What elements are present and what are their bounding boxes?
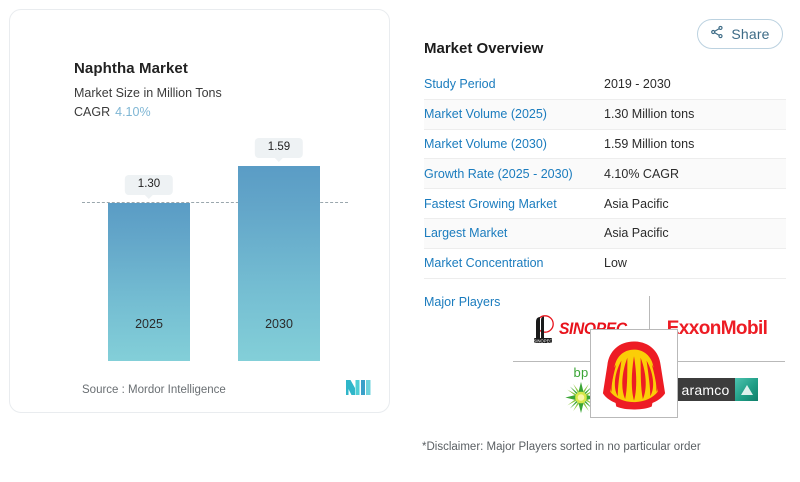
bar-value-label-2025: 1.30 [125, 175, 173, 195]
aramco-wordmark: aramco [676, 378, 736, 401]
row-value: Asia Pacific [604, 226, 669, 240]
market-overview-panel: Market Overview Study Period 2019 - 2030… [424, 40, 786, 309]
row-value: Asia Pacific [604, 197, 669, 211]
player-logo-shell [590, 329, 678, 418]
bar-value-label-2030: 1.59 [255, 138, 303, 158]
table-row: Market Volume (2030) 1.59 Million tons [424, 130, 786, 160]
row-value: 2019 - 2030 [604, 77, 671, 91]
table-row: Growth Rate (2025 - 2030) 4.10% CAGR [424, 159, 786, 189]
bar-group-2025[interactable]: 1.30 2025 [108, 126, 190, 361]
row-label: Growth Rate (2025 - 2030) [424, 167, 604, 181]
source-prefix: Source : [82, 384, 125, 396]
table-row: Fastest Growing Market Asia Pacific [424, 189, 786, 219]
bar-chart-plot: 1.30 2025 1.59 2030 [10, 10, 391, 414]
aramco-mark-icon [735, 378, 758, 401]
row-label: Fastest Growing Market [424, 197, 604, 211]
x-axis-label-2025: 2025 [135, 317, 163, 331]
row-value: 1.30 Million tons [604, 107, 694, 121]
overview-table: Study Period 2019 - 2030 Market Volume (… [424, 70, 786, 279]
major-players-logo-grid: SINOPEC SINOPEC ExxonMobil bp [513, 296, 785, 418]
exxonmobil-wordmark: ExxonMobil [667, 318, 768, 340]
source-row: Source : Mordor Intelligence [82, 380, 372, 400]
row-value: Low [604, 256, 627, 270]
row-label: Largest Market [424, 226, 604, 240]
table-row: Market Volume (2025) 1.30 Million tons [424, 100, 786, 130]
x-axis-label-2030: 2030 [265, 317, 293, 331]
bar-group-2030[interactable]: 1.59 2030 [238, 126, 320, 361]
bar-rect-2025[interactable] [108, 203, 190, 361]
row-label: Study Period [424, 77, 604, 91]
bar-rect-2030[interactable] [238, 166, 320, 361]
bp-wordmark: bp [573, 365, 588, 380]
row-label: Market Volume (2025) [424, 107, 604, 121]
overview-title: Market Overview [424, 40, 786, 57]
row-label: Market Concentration [424, 256, 604, 270]
table-row: Largest Market Asia Pacific [424, 219, 786, 249]
mordor-intelligence-logo [346, 380, 372, 400]
row-value: 4.10% CAGR [604, 167, 679, 181]
table-row: Market Concentration Low [424, 249, 786, 279]
chart-card: Naphtha Market Market Size in Million To… [9, 9, 390, 413]
source-name: Mordor Intelligence [128, 384, 226, 396]
row-label: Market Volume (2030) [424, 137, 604, 151]
table-row: Study Period 2019 - 2030 [424, 70, 786, 100]
source-text: Source : Mordor Intelligence [82, 384, 226, 396]
sinopec-mark-icon: SINOPEC [533, 314, 554, 344]
disclaimer-text: *Disclaimer: Major Players sorted in no … [422, 441, 701, 453]
svg-text:SINOPEC: SINOPEC [533, 338, 552, 343]
shell-pecten-icon [597, 338, 671, 410]
row-value: 1.59 Million tons [604, 137, 694, 151]
